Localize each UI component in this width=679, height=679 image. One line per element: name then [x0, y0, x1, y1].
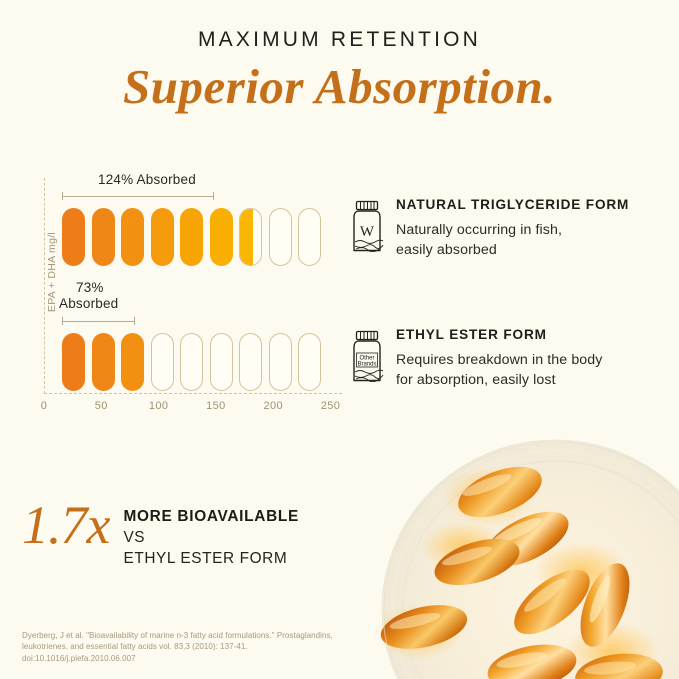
chart-y-axis-label: EPA + DHA mg/l — [46, 212, 58, 332]
chart-pill — [239, 208, 262, 266]
bioavailability-line-1: MORE BIOAVAILABLE — [123, 508, 299, 526]
feature-natural-triglyceride: W NATURAL TRIGLYCERIDE FORM Naturally oc… — [350, 196, 670, 260]
chart-pill — [151, 333, 174, 391]
feature-desc-line-1: Requires breakdown in the body — [396, 350, 602, 370]
feature-title-ethyl-ester: ETHYL ESTER FORM — [396, 327, 602, 342]
chart-pill — [210, 208, 233, 266]
feature-list: W NATURAL TRIGLYCERIDE FORM Naturally oc… — [350, 196, 670, 457]
chart-pill — [62, 208, 85, 266]
bioavailability-lines: MORE BIOAVAILABLE VS ETHYL ESTER FORM — [123, 500, 299, 568]
feature-desc-natural-triglyceride: Naturally occurring in fish, easily abso… — [396, 220, 629, 260]
feature-text-ethyl-ester: ETHYL ESTER FORM Requires breakdown in t… — [396, 326, 602, 390]
chart-pill — [92, 208, 115, 266]
feature-desc-ethyl-ester: Requires breakdown in the body for absor… — [396, 350, 602, 390]
chart-pill-partial-fill — [240, 209, 253, 265]
bottle-label-w: W — [360, 224, 375, 240]
chart-pill — [121, 208, 144, 266]
pill-row-natural-triglyceride — [62, 208, 321, 266]
bioavailability-line-3: ETHYL ESTER FORM — [123, 550, 299, 568]
softgel-capsules-photo — [367, 427, 679, 679]
bracket-label-ethyl-ester-word: Absorbed — [59, 296, 118, 311]
chart-pill — [210, 333, 233, 391]
page-title: Superior Absorption. — [0, 58, 679, 115]
chart-x-axis-line — [44, 393, 342, 394]
header: MAXIMUM RETENTION Superior Absorption. — [0, 0, 679, 115]
supplement-bottle-icon: W — [350, 200, 384, 257]
chart-pill — [298, 333, 321, 391]
x-tick-50: 50 — [95, 400, 108, 412]
feature-title-natural-triglyceride: NATURAL TRIGLYCERIDE FORM — [396, 197, 629, 212]
bioavailability-line-2: VS — [123, 529, 299, 547]
x-tick-250: 250 — [321, 400, 341, 412]
feature-ethyl-ester: Other Brands ETHYL ESTER FORM Requires b… — [350, 326, 670, 390]
x-tick-150: 150 — [206, 400, 226, 412]
chart-pill — [269, 333, 292, 391]
citation-text: Dyerberg, J et al. "Bioavailability of m… — [22, 630, 362, 664]
chart-pill — [269, 208, 292, 266]
chart-pill — [121, 333, 144, 391]
feature-desc-line-2: for absorption, easily lost — [396, 370, 602, 390]
chart-y-axis-line — [44, 178, 45, 394]
chart-pill — [180, 333, 203, 391]
chart-pill — [180, 208, 203, 266]
chart-pill — [92, 333, 115, 391]
feature-desc-line-1: Naturally occurring in fish, — [396, 220, 629, 240]
supplement-bottle-icon: Other Brands — [350, 330, 384, 387]
x-tick-200: 200 — [263, 400, 283, 412]
chart-x-axis-ticks: 050100150200250 — [44, 400, 342, 418]
bottle-label-brands: Brands — [357, 362, 376, 368]
bracket-label-natural-triglyceride: 124% Absorbed — [98, 172, 196, 187]
chart-pill — [62, 333, 85, 391]
x-tick-100: 100 — [149, 400, 169, 412]
feature-desc-line-2: easily absorbed — [396, 240, 629, 260]
feature-text-natural-triglyceride: NATURAL TRIGLYCERIDE FORM Naturally occu… — [396, 196, 629, 260]
chart-pill — [298, 208, 321, 266]
header-eyebrow: MAXIMUM RETENTION — [0, 28, 679, 52]
x-tick-0: 0 — [41, 400, 48, 412]
bioavailability-callout: 1.7x MORE BIOAVAILABLE VS ETHYL ESTER FO… — [22, 500, 299, 568]
absorption-chart: EPA + DHA mg/l 124% Absorbed 73% Absorbe… — [22, 170, 342, 432]
bracket-ethyl-ester — [62, 317, 135, 325]
bracket-label-ethyl-ester-pct: 73% — [76, 280, 104, 295]
chart-pill — [239, 333, 262, 391]
chart-pill — [151, 208, 174, 266]
pill-row-ethyl-ester — [62, 333, 321, 391]
bioavailability-multiplier: 1.7x — [22, 500, 109, 551]
bracket-natural-triglyceride — [62, 192, 214, 200]
